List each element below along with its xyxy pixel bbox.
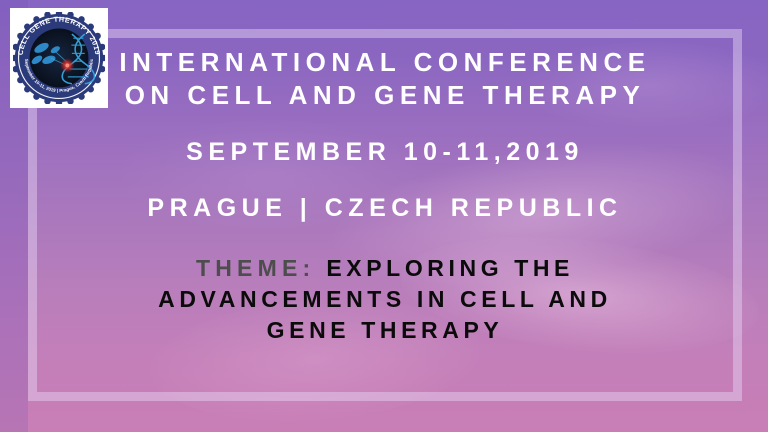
- conference-date: SEPTEMBER 10-11,2019: [38, 138, 732, 167]
- theme-text-1: EXPLORING THE: [326, 255, 574, 281]
- theme-line-1: THEME: EXPLORING THE: [38, 253, 732, 284]
- banner-content: INTERNATIONAL CONFERENCE ON CELL AND GEN…: [38, 29, 732, 401]
- conference-title: INTERNATIONAL CONFERENCE ON CELL AND GEN…: [38, 46, 732, 112]
- conference-venue: PRAGUE | CZECH REPUBLIC: [38, 194, 732, 223]
- conference-theme: THEME: EXPLORING THE ADVANCEMENTS IN CEL…: [38, 253, 732, 346]
- conference-banner: CELL GENE THERAPY 2019 September 10-11, …: [0, 0, 768, 432]
- theme-line-2: ADVANCEMENTS IN CELL AND: [38, 284, 732, 315]
- title-line-1: INTERNATIONAL CONFERENCE: [38, 46, 732, 79]
- title-line-2: ON CELL AND GENE THERAPY: [38, 79, 732, 112]
- theme-spacer: [315, 255, 326, 281]
- theme-line-3: GENE THERAPY: [38, 315, 732, 346]
- theme-label: THEME:: [196, 255, 315, 281]
